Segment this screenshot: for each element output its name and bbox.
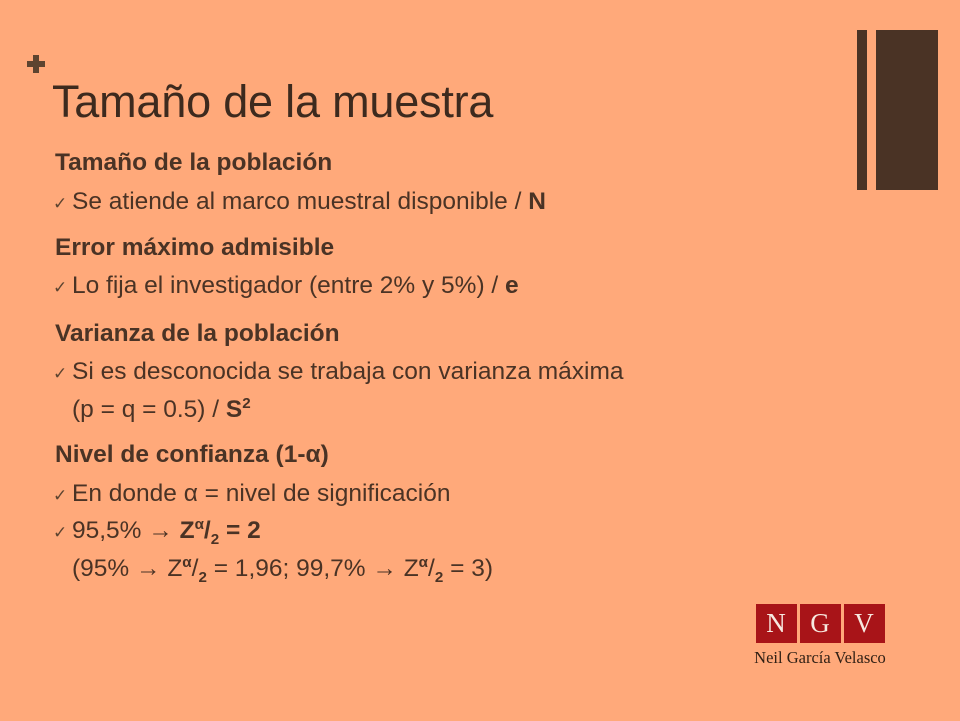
z-line1-value: = 2: [219, 517, 261, 544]
continuation-prefix: (p = q = 0.5) /: [72, 396, 226, 423]
page-title: Tamaño de la muestra: [52, 78, 493, 125]
z-line1-prefix: 95,5% →: [72, 517, 180, 544]
section-error: Error máximo admisible ✓ Lo fija el inve…: [53, 236, 893, 300]
z-line2-open: (95% →: [72, 555, 167, 582]
continuation-line: (p = q = 0.5) / S2: [72, 396, 893, 423]
z-alpha-superscript: α: [195, 516, 204, 533]
list-item-text: Se atiende al marco muestral disponible …: [72, 188, 546, 215]
list-item: ✓ Lo fija el investigador (entre 2% y 5%…: [53, 272, 893, 299]
section-heading: Tamaño de la población: [55, 151, 893, 176]
z-alpha-superscript-2: α: [182, 553, 191, 570]
ngv-logo: N G V Neil García Velasco: [752, 604, 888, 668]
slide-root: { "slide": { "title": "Tamaño de la mues…: [0, 0, 960, 721]
bullet-symbol: e: [505, 272, 519, 299]
z-two-subscript: 2: [211, 531, 219, 548]
z-two-subscript-2: 2: [198, 569, 206, 586]
z-two-subscript-3: 2: [435, 569, 443, 586]
section-heading: Varianza de la población: [55, 322, 893, 347]
slide-content: Tamaño de la población ✓ Se atiende al m…: [53, 151, 893, 588]
variance-symbol: S: [226, 396, 242, 423]
section-heading: Nivel de confianza (1-α): [55, 443, 893, 468]
check-icon: ✓: [53, 195, 72, 212]
title-row: Tamaño de la muestra: [26, 48, 493, 156]
logo-letter-v: V: [844, 604, 885, 643]
logo-letter-g: G: [800, 604, 841, 643]
z-value-parenthetical: (95% → Zα/2 = 1,96; 99,7% → Zα/2 = 3): [72, 555, 893, 582]
z-symbol-2: Z: [167, 555, 182, 582]
z-value-line: 95,5% → Zα/2 = 2: [72, 517, 261, 544]
check-icon: ✓: [53, 524, 72, 541]
logo-author-name: Neil García Velasco: [752, 648, 888, 668]
list-item: ✓ En donde α = nivel de significación: [53, 480, 893, 507]
list-item-z-value: ✓ 95,5% → Zα/2 = 2: [53, 517, 893, 544]
logo-letter-marks: N G V: [752, 604, 888, 643]
list-item-text: Si es desconocida se trabaja con varianz…: [72, 358, 624, 385]
check-icon: ✓: [53, 365, 72, 382]
section-confianza: Nivel de confianza (1-α) ✓ En donde α = …: [53, 443, 893, 582]
z-symbol-3: Z: [404, 555, 419, 582]
bullet-symbol: N: [528, 188, 546, 215]
z-fraction-slash-3: /: [428, 555, 435, 582]
z-line2-close: = 3): [443, 555, 493, 582]
section-varianza: Varianza de la población ✓ Si es descono…: [53, 322, 893, 423]
list-item: ✓ Si es desconocida se trabaja con varia…: [53, 358, 893, 385]
z-symbol: Z: [180, 517, 195, 544]
z-line2-middle: = 1,96; 99,7% →: [207, 555, 404, 582]
list-item-text: Lo fija el investigador (entre 2% y 5%) …: [72, 272, 519, 299]
bullet-body: Se atiende al marco muestral disponible …: [72, 188, 528, 215]
z-fraction-slash: /: [204, 517, 211, 544]
list-item-text: En donde α = nivel de significación: [72, 480, 451, 507]
bullet-body: Lo fija el investigador (entre 2% y 5%) …: [72, 272, 505, 299]
section-heading: Error máximo admisible: [55, 236, 893, 261]
section-poblacion: Tamaño de la población ✓ Se atiende al m…: [53, 151, 893, 215]
check-icon: ✓: [53, 279, 72, 296]
check-icon: ✓: [53, 487, 72, 504]
list-item: ✓ Se atiende al marco muestral disponibl…: [53, 188, 893, 215]
logo-letter-n: N: [756, 604, 797, 643]
plus-icon: [26, 54, 48, 76]
variance-exponent: 2: [242, 395, 250, 412]
z-alpha-superscript-3: α: [419, 553, 428, 570]
